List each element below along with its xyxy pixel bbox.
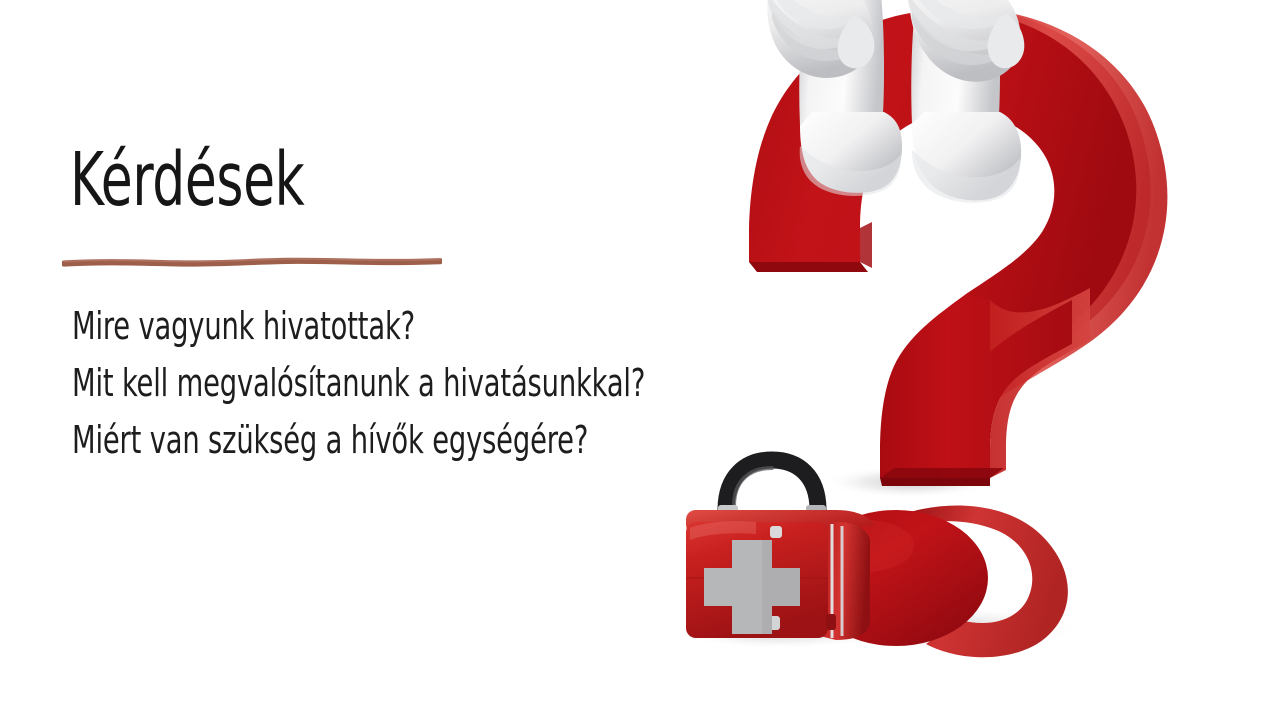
page-title: Kérdések	[70, 143, 304, 217]
first-aid-case-stud-side	[826, 614, 836, 630]
question-list: Mire vagyunk hivatottak? Mit kell megval…	[72, 298, 692, 469]
question-mark-stem	[880, 288, 1090, 486]
question-mark-hook-bottom-right-bevel	[860, 222, 872, 268]
figure-left-hand	[767, 0, 874, 78]
question-mark-stem-bottom-bevel	[880, 468, 1004, 478]
title-divider	[62, 252, 442, 270]
list-item: Mit kell megvalósítanunk a hivatásunkkal…	[72, 355, 568, 412]
slide-canvas: Kérdések Mire vagyunk hivatottak? Mit ke…	[0, 0, 1280, 720]
list-item: Miért van szükség a hívők egységére?	[72, 412, 568, 469]
question-mark-stem-front	[880, 294, 1072, 478]
question-mark-hook-bottom-bevel	[749, 262, 868, 272]
slide-text-column: Kérdések Mire vagyunk hivatottak? Mit ke…	[0, 0, 700, 720]
question-mark-illustration	[660, 0, 1220, 700]
list-item: Mire vagyunk hivatottak?	[72, 298, 568, 355]
question-mark-stem-bottom-face	[880, 478, 990, 486]
first-aid-case-stud-top	[770, 526, 782, 538]
